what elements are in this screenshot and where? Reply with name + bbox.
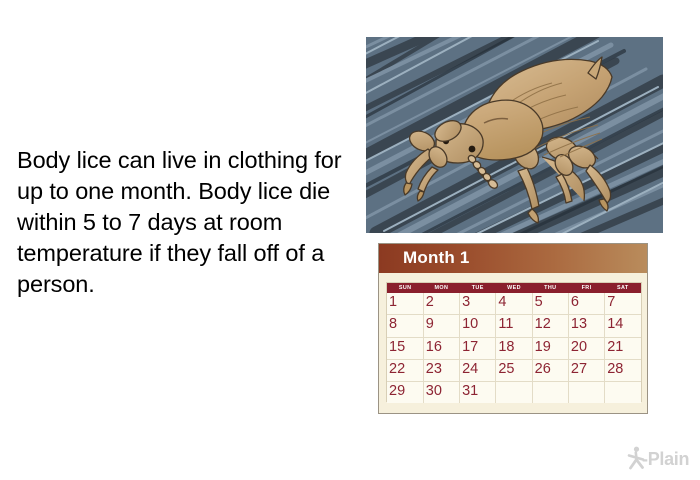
calendar-day-cell[interactable]: 27 — [568, 359, 604, 381]
calendar-day-cell[interactable]: 10 — [460, 315, 496, 337]
calendar-day-cell[interactable]: 1 — [387, 293, 423, 315]
day-header-fri: FRI — [568, 283, 604, 293]
calendar-day-cell[interactable]: 12 — [532, 315, 568, 337]
calendar-day-cell[interactable]: 25 — [496, 359, 532, 381]
calendar-day-cell[interactable]: 28 — [605, 359, 641, 381]
calendar-day-cell[interactable]: 26 — [532, 359, 568, 381]
calendar-day-cell[interactable]: 4 — [496, 293, 532, 315]
calendar-week-row: 8 9 10 11 12 13 14 — [387, 315, 641, 337]
calendar-day-cell[interactable]: 23 — [423, 359, 459, 381]
calendar-day-cell[interactable]: 11 — [496, 315, 532, 337]
day-header-mon: MON — [423, 283, 459, 293]
calendar-day-cell[interactable]: 19 — [532, 337, 568, 359]
calendar-day-cell[interactable]: 8 — [387, 315, 423, 337]
calendar-day-cell[interactable]: 18 — [496, 337, 532, 359]
body-text-paragraph: Body lice can live in clothing for up to… — [17, 145, 353, 300]
calendar-day-cell[interactable]: 2 — [423, 293, 459, 315]
calendar-day-cell[interactable]: 21 — [605, 337, 641, 359]
calendar-day-cell[interactable]: 14 — [605, 315, 641, 337]
calendar-header-bar: Month 1 — [379, 244, 647, 273]
calendar-week-row: 29 30 31 — [387, 382, 641, 404]
xplain-logo-text: -Plain — [642, 449, 689, 470]
calendar-day-cell[interactable]: 6 — [568, 293, 604, 315]
day-header-sat: SAT — [605, 283, 641, 293]
calendar-month-title: Month 1 — [403, 248, 470, 268]
body-louse-illustration — [366, 37, 663, 233]
calendar-grid-container: SUN MON TUE WED THU FRI SAT 1 2 3 4 — [386, 282, 642, 402]
calendar-day-cell-empty — [496, 382, 532, 404]
calendar-day-cell-empty — [568, 382, 604, 404]
calendar-day-cell[interactable]: 13 — [568, 315, 604, 337]
calendar-day-cell[interactable]: 17 — [460, 337, 496, 359]
slide-canvas: Body lice can live in clothing for up to… — [0, 0, 700, 480]
calendar-week-row: 22 23 24 25 26 27 28 — [387, 359, 641, 381]
day-header-tue: TUE — [460, 283, 496, 293]
day-header-wed: WED — [496, 283, 532, 293]
calendar-week-row: 15 16 17 18 19 20 21 — [387, 337, 641, 359]
calendar-day-cell-empty — [605, 382, 641, 404]
xplain-watermark-logo: -Plain — [626, 446, 692, 472]
calendar-day-cell[interactable]: 16 — [423, 337, 459, 359]
day-header-sun: SUN — [387, 283, 423, 293]
calendar-day-cell[interactable]: 7 — [605, 293, 641, 315]
calendar-day-cell[interactable]: 20 — [568, 337, 604, 359]
calendar-day-cell[interactable]: 22 — [387, 359, 423, 381]
louse-illustration-svg — [366, 37, 663, 233]
calendar-day-cell[interactable]: 9 — [423, 315, 459, 337]
calendar-day-cell-empty — [532, 382, 568, 404]
calendar-day-header-row: SUN MON TUE WED THU FRI SAT — [387, 283, 641, 293]
calendar-day-cell[interactable]: 24 — [460, 359, 496, 381]
month-calendar[interactable]: Month 1 SUN MON TUE WED THU FRI SAT — [378, 243, 648, 414]
calendar-day-cell[interactable]: 29 — [387, 382, 423, 404]
calendar-week-row: 1 2 3 4 5 6 7 — [387, 293, 641, 315]
calendar-table: SUN MON TUE WED THU FRI SAT 1 2 3 4 — [387, 283, 641, 403]
calendar-day-cell[interactable]: 31 — [460, 382, 496, 404]
calendar-day-cell[interactable]: 30 — [423, 382, 459, 404]
calendar-day-cell[interactable]: 3 — [460, 293, 496, 315]
calendar-day-cell[interactable]: 5 — [532, 293, 568, 315]
calendar-day-cell[interactable]: 15 — [387, 337, 423, 359]
day-header-thu: THU — [532, 283, 568, 293]
